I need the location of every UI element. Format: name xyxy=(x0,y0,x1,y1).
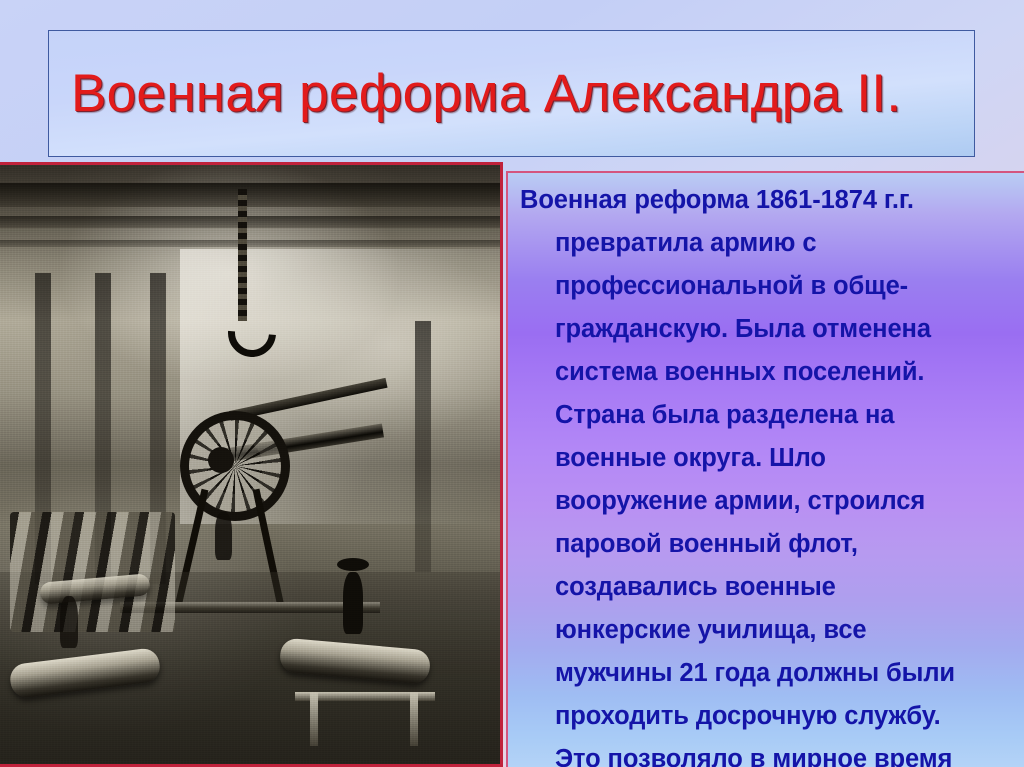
body-text-line: паровой военный флот, xyxy=(508,523,1024,566)
body-text-line: юнкерские училища, все xyxy=(508,609,1024,652)
body-text-line: военные округа. Шло xyxy=(508,437,1024,480)
historical-photo-image xyxy=(0,165,500,764)
photo-grain-overlay xyxy=(0,165,500,764)
body-text-line: профессиональной в обще- xyxy=(508,265,1024,308)
body-text-line: превратила армию с xyxy=(508,222,1024,265)
body-text-panel: Военная реформа 1861-1874 г.г. превратил… xyxy=(506,171,1024,767)
slide-title: Военная реформа Александра II. xyxy=(49,66,901,122)
body-text-line: проходить досрочную службу. xyxy=(508,695,1024,738)
body-text-line: Военная реформа 1861-1874 г.г. xyxy=(508,179,1024,222)
body-text-line: мужчины 21 года должны были xyxy=(508,652,1024,695)
body-text-line: вооружение армии, строился xyxy=(508,480,1024,523)
body-text-line: создавались военные xyxy=(508,566,1024,609)
body-text-line: Это позволяло в мирное время xyxy=(508,738,1024,767)
historical-photo-frame xyxy=(0,162,503,767)
body-text-line: гражданскую. Была отменена xyxy=(508,308,1024,351)
title-box: Военная реформа Александра II. xyxy=(48,30,975,157)
presentation-slide: Военная реформа Александра II. xyxy=(0,0,1024,767)
body-text-line: система военных поселений. xyxy=(508,351,1024,394)
body-text-line: Страна была разделена на xyxy=(508,394,1024,437)
